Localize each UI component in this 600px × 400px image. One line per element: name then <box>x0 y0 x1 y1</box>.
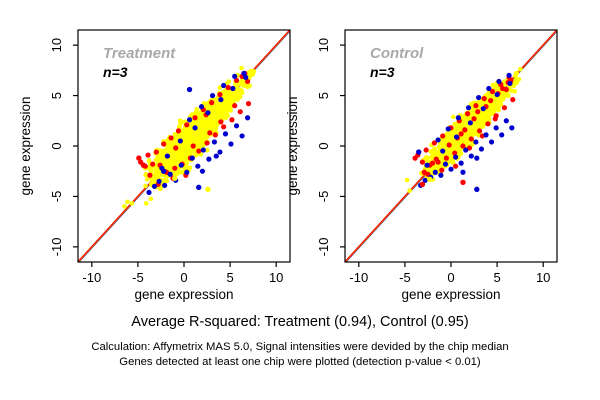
data-point <box>173 145 178 150</box>
data-point <box>165 149 170 154</box>
data-point <box>239 133 244 138</box>
treatment-panel-title: Treatment <box>103 45 176 62</box>
control-plot-area: -10-50510-10-50510 <box>316 30 557 285</box>
panel-control: -10-50510-10-50510 Control n=3 gene expr… <box>275 0 560 310</box>
data-point <box>207 130 212 135</box>
panel-treatment: -10-50510-10-50510 Treatment n=3 gene ex… <box>8 0 293 310</box>
data-point <box>150 162 155 167</box>
data-point <box>176 128 181 133</box>
data-point <box>195 107 200 112</box>
data-point <box>196 185 201 190</box>
data-point <box>198 141 203 146</box>
axis-tick-label: 10 <box>49 38 64 52</box>
data-point <box>172 176 177 181</box>
data-point <box>205 187 210 192</box>
data-point <box>172 157 177 162</box>
figure-root: -10-50510-10-50510 Treatment n=3 gene ex… <box>0 0 600 400</box>
data-point <box>191 143 196 148</box>
data-point <box>227 100 232 105</box>
data-point <box>178 151 183 156</box>
data-point <box>186 135 191 140</box>
data-point <box>217 92 222 97</box>
data-point <box>143 184 148 189</box>
data-point <box>205 110 210 115</box>
data-point <box>130 201 135 206</box>
data-point <box>214 153 219 158</box>
data-point <box>221 124 226 129</box>
data-point <box>147 158 152 163</box>
axis-tick-label: 5 <box>49 92 64 99</box>
data-point <box>193 121 198 126</box>
data-point <box>192 115 197 120</box>
data-point <box>214 105 219 110</box>
data-point <box>197 123 202 128</box>
data-point <box>168 135 173 140</box>
data-point <box>165 153 170 158</box>
data-point <box>141 162 146 167</box>
data-point <box>186 129 191 134</box>
data-point <box>200 169 205 174</box>
data-point <box>210 93 215 98</box>
data-point <box>154 149 159 154</box>
data-point <box>190 156 195 161</box>
data-point <box>209 100 214 105</box>
data-point <box>247 70 252 75</box>
data-point <box>229 117 234 122</box>
data-point <box>232 74 237 79</box>
data-point <box>183 145 188 150</box>
data-point <box>204 140 209 145</box>
data-point <box>199 104 204 109</box>
data-point <box>431 152 436 157</box>
data-point <box>226 85 231 90</box>
data-point <box>245 84 250 89</box>
data-point <box>168 172 173 177</box>
axis-tick-label: 0 <box>180 270 187 285</box>
data-point <box>201 147 206 152</box>
data-point <box>212 139 217 144</box>
treatment-y-axis-label: gene expression <box>18 96 33 195</box>
data-point <box>122 204 127 209</box>
data-point <box>172 166 177 171</box>
data-point <box>243 75 248 80</box>
treatment-scatter-svg[interactable]: -10-50510-10-50510 Treatment n=3 gene ex… <box>8 0 293 310</box>
axis-tick-label: -10 <box>49 237 64 256</box>
data-point <box>213 132 218 137</box>
data-point <box>152 184 157 189</box>
axis-tick-label: -10 <box>82 270 101 285</box>
data-point <box>184 122 189 127</box>
data-point <box>200 130 205 135</box>
data-point <box>191 149 196 154</box>
data-point <box>157 179 162 184</box>
data-point <box>194 136 199 141</box>
data-point <box>228 141 233 146</box>
data-point <box>161 141 166 146</box>
data-point <box>156 155 161 160</box>
treatment-panel-subtitle: n=3 <box>103 64 128 80</box>
data-point <box>225 93 230 98</box>
data-point <box>218 119 223 124</box>
control-scatter-svg[interactable]: -10-50510-10-50510 Control n=3 gene expr… <box>275 0 560 310</box>
data-point <box>239 66 244 71</box>
data-point <box>206 157 211 162</box>
axis-tick-label: 0 <box>49 142 64 149</box>
data-point <box>518 67 523 72</box>
axis-tick-label: -5 <box>49 191 64 203</box>
data-point <box>232 103 237 108</box>
data-point <box>234 123 239 128</box>
data-point <box>147 173 152 178</box>
data-point <box>161 169 166 174</box>
data-point <box>512 89 517 94</box>
data-point <box>433 146 438 151</box>
data-point <box>144 201 149 206</box>
scatter-panels: -10-50510-10-50510 Treatment n=3 gene ex… <box>0 0 600 310</box>
data-point <box>218 97 223 102</box>
data-point <box>205 124 210 129</box>
axis-tick-label: 5 <box>226 270 233 285</box>
treatment-x-axis-label: gene expression <box>134 287 233 302</box>
data-point <box>203 136 208 141</box>
data-point <box>203 117 208 122</box>
data-point <box>195 164 200 169</box>
data-point <box>184 170 189 175</box>
data-point <box>222 106 227 111</box>
data-point <box>223 131 228 136</box>
data-point <box>179 120 184 125</box>
data-point <box>216 112 221 117</box>
data-point <box>405 178 410 183</box>
data-point <box>187 117 192 122</box>
data-point <box>187 87 192 92</box>
data-point <box>149 197 154 202</box>
data-point <box>168 162 173 167</box>
data-point <box>224 113 229 118</box>
data-point <box>196 148 201 153</box>
treatment-plot-area: -10-50510-10-50510 <box>49 30 290 285</box>
data-point <box>233 94 238 99</box>
data-point <box>145 152 150 157</box>
data-point <box>136 155 141 160</box>
data-point <box>146 190 151 195</box>
data-point <box>162 183 167 188</box>
data-point <box>451 115 456 120</box>
data-point <box>125 200 130 205</box>
data-point <box>192 125 197 130</box>
data-point <box>217 149 222 154</box>
data-point <box>211 118 216 123</box>
data-point <box>490 83 495 88</box>
data-point <box>178 138 183 143</box>
data-point <box>179 163 184 168</box>
data-point <box>238 109 243 114</box>
data-point <box>230 86 235 91</box>
data-point <box>221 83 226 88</box>
data-point <box>239 88 244 93</box>
data-point <box>246 101 251 106</box>
axis-tick-label: -5 <box>132 270 144 285</box>
data-point <box>407 188 412 193</box>
data-point <box>245 115 250 120</box>
